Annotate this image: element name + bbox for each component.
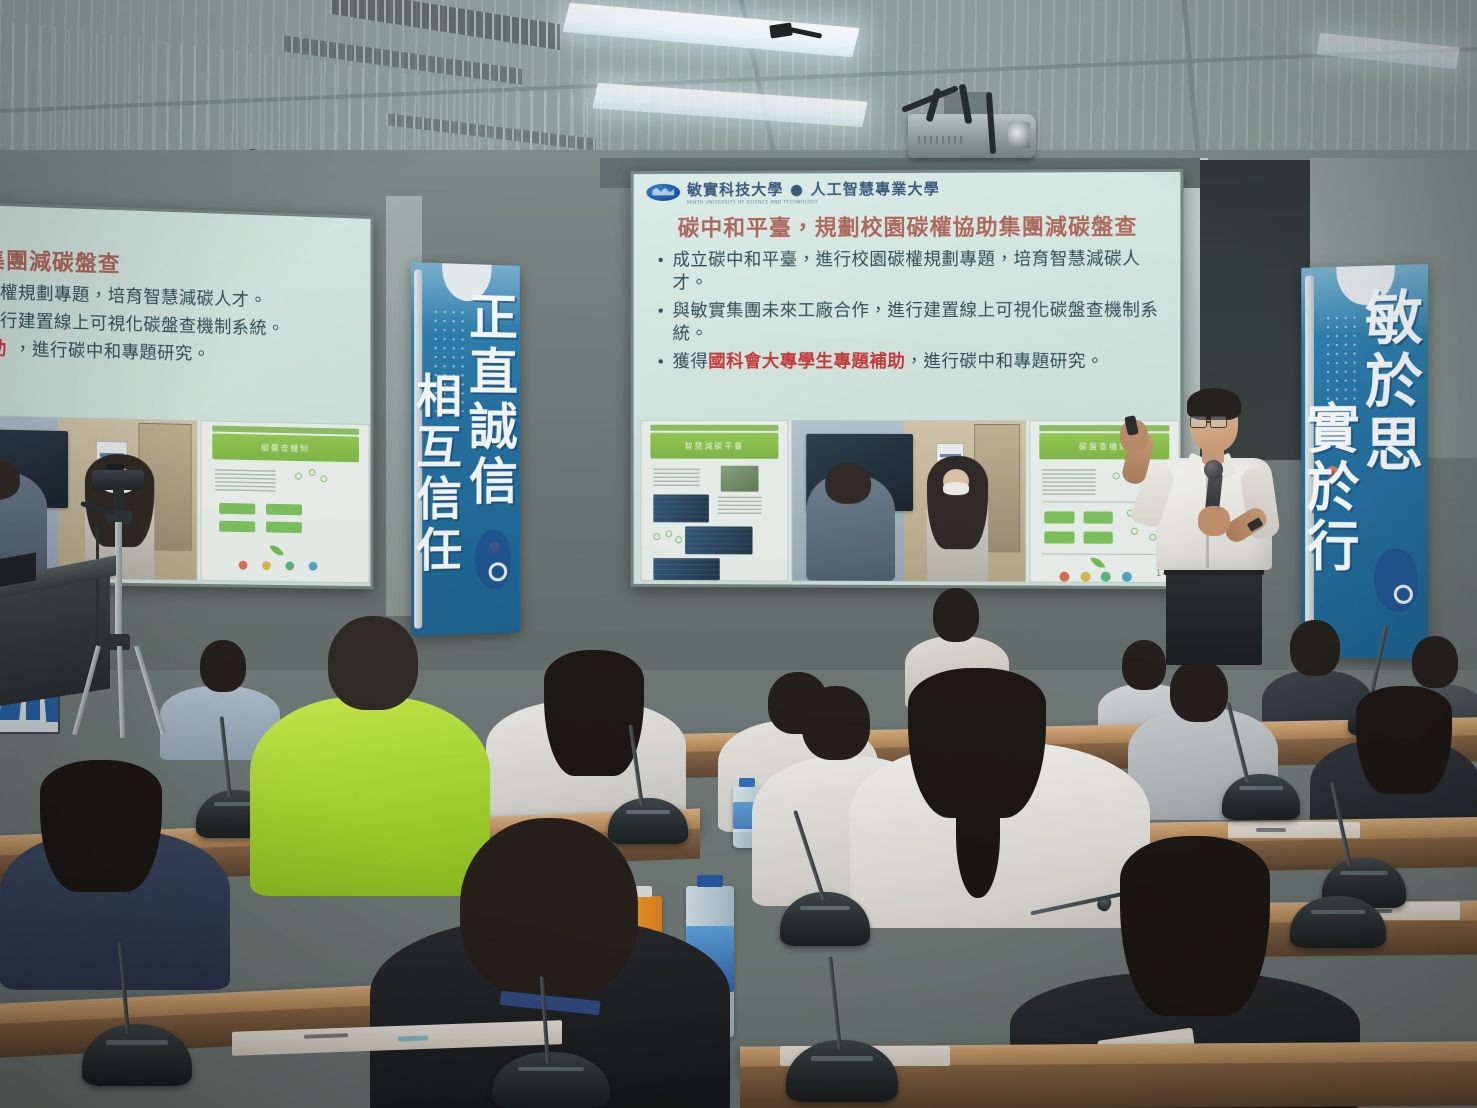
flow-box-3 [219,521,256,533]
camera-tripod [76,470,162,730]
flow-box [219,503,256,515]
person-long-hair [544,650,644,776]
poster-header-right: 碳盤查機制 [212,433,359,462]
photo-person-front-mask [943,482,969,495]
poster-header-left-main: 智慧減碳平臺 [650,433,779,459]
poster-text-block-b [717,497,761,515]
lecture-hall-photo: 人工智慧專業大學 ，規劃校園碳權協助集團減碳盤查 成立碳中和平臺，進行校園碳權規… [0,0,1477,1108]
person-long-hair [40,760,162,892]
person-head [460,818,638,998]
slide-poster-strip: 智慧減碳平臺 [641,420,1174,583]
slide-org-name-en: MINTH UNIVERSITY OF SCIENCE AND TECHNOLO… [687,199,940,205]
banner-left-line1: 正直誠信 [465,290,514,510]
poster-left-main: 智慧減碳平臺 [641,420,789,582]
flow-box-3 [1045,531,1075,543]
slide-logo-row: 敏實科技大學 ● 人工智慧專業大學 MINTH UNIVERSITY OF SC… [646,177,1169,205]
person-head [933,588,979,642]
slide-main: 敏實科技大學 ● 人工智慧專業大學 MINTH UNIVERSITY OF SC… [631,169,1184,589]
molecule-diagram-icon [653,530,689,550]
poster-screenshot-3 [653,558,720,580]
presenter [1128,372,1318,662]
person-head [328,616,418,710]
poster-thumb [720,466,758,492]
audience-person [486,650,686,820]
person-long-hair [1356,686,1452,794]
flow-box-4 [266,522,303,533]
microphone-head-icon [1204,460,1223,479]
audience-person [0,760,230,990]
slide-bullets-left: 成立碳中和平臺，進行校園碳權規劃專題，培育智慧減碳人才。 與敏實集團未來工廠合作… [0,274,360,371]
bullet-marker-icon: • [656,352,665,375]
projection-screen-main: 敏實科技大學 ● 人工智慧專業大學 MINTH UNIVERSITY OF SC… [631,169,1184,589]
camera-cable [96,526,99,646]
infographic-dot-2 [1080,572,1090,582]
tripod-leg-2 [117,646,125,738]
infographic-dot-2 [262,561,271,570]
tripod-pan-handle[interactable] [80,501,114,516]
slide-bullet-left-3-post: ，進行碳中和專題研究。 [14,339,210,367]
poster-text-block-2 [215,469,275,494]
desk-accent-strip [398,1035,428,1041]
slide-bullet-3-highlight: 國科會大專學生專題補助 [708,352,905,372]
infographic-dot [239,561,248,570]
person-head [1412,636,1458,688]
poster-center-photo-main [792,420,1026,583]
person-head [200,640,246,692]
slide-bullet-3-wrap: 獲得國科會大專學生專題補助，進行碳中和專題研究。 [673,351,1105,374]
tripod-leg-3 [134,645,166,734]
flow-box-4 [1083,532,1113,544]
person-head [1170,660,1228,722]
desk-cable-slot [1256,828,1286,832]
university-logo-icon [646,183,680,200]
banner-ring-icon [1393,585,1412,605]
banner-right: 敏於思 實於行 [1301,264,1428,660]
bullet-marker-icon: • [656,301,665,347]
slide-bullet-3-pre: 獲得 [673,352,709,372]
slide-title: 碳中和平臺，規劃校園碳權協助集團減碳盤查 [646,209,1169,243]
leaf-icon [1090,554,1105,571]
photo-person-back-head [825,462,871,504]
slide-left: 人工智慧專業大學 ，規劃校園碳權協助集團減碳盤查 成立碳中和平臺，進行校園碳權規… [0,193,373,589]
audience-person-long-hair [850,668,1150,928]
video-camera [92,470,144,490]
desk-microphone-gooseneck [828,956,842,1050]
glasses-icon [1190,416,1207,428]
poster-text-block-2 [1042,469,1095,495]
slide-bullet-1-text: 成立碳中和平臺，進行校園碳權規劃專題，培育智慧減碳人才。 [673,248,1166,295]
poster-text-block [653,469,700,487]
person-ponytail [956,768,1000,898]
slide-bullet-1: • 成立碳中和平臺，進行校園碳權規劃專題，培育智慧減碳人才。 [656,248,1165,295]
poster-screenshot [653,494,708,522]
infographic-dot-3 [286,561,295,570]
molecule-diagram-icon [296,469,335,493]
slide-poster-strip-left: 智慧減碳平臺 [0,410,364,583]
person-long-hair [1120,836,1270,1016]
flow-box-2 [266,504,303,516]
banner-left-line2: 相互信任 [413,371,459,577]
banner-right-line1: 敏於思 [1360,287,1418,478]
banner-blob [1374,548,1418,612]
photo-scene-main [793,421,1025,582]
flow-box [1045,511,1075,523]
presenter-left-hand [1198,506,1230,536]
poster-right: 碳盤查機制 [201,420,370,583]
leaf-icon [270,542,285,559]
infographic-dot-3 [1101,572,1111,582]
banner-left: 正直誠信 相互信任 [411,262,520,636]
slide-bullet-left-3-highlight: 國科會大專學生專題補助 [0,333,7,362]
poster-header-bar [650,425,779,431]
projection-screen-left: 人工智慧專業大學 ，規劃校園碳權協助集團減碳盤查 成立碳中和平臺，進行校園碳權規… [0,193,373,589]
glasses-bridge [1207,421,1211,423]
infographic-dot-4 [309,562,318,571]
infographic-dot [1060,572,1070,582]
projector-vents [918,136,964,144]
tripod-leg [72,645,101,735]
slide-bullet-3: • 獲得國科會大專學生專題補助，進行碳中和專題研究。 [656,351,1165,374]
glasses-icon-right [1210,416,1227,428]
tripod-center-column [115,522,122,640]
slide-bullet-3-post: ，進行碳中和專題研究。 [905,352,1104,372]
slide-bullet-2-text: 與敏實集團未來工廠合作，進行建置線上可視化碳盤查機制系統。 [673,300,1166,347]
presenter-trousers [1166,570,1262,665]
slide-bullets: • 成立碳中和平臺，進行校園碳權規劃專題，培育智慧減碳人才。 • 與敏實集團未來… [646,248,1169,374]
flow-box-2 [1083,511,1113,523]
poster-screenshot-2 [685,526,752,554]
projector-lens-icon [1008,122,1030,148]
slide-org-name: 敏實科技大學 ● 人工智慧專業大學 [687,179,940,198]
bullet-marker-icon: • [656,250,665,296]
slide-bullet-2: • 與敏實集團未來工廠合作，進行建置線上可視化碳盤查機制系統。 [656,300,1165,347]
